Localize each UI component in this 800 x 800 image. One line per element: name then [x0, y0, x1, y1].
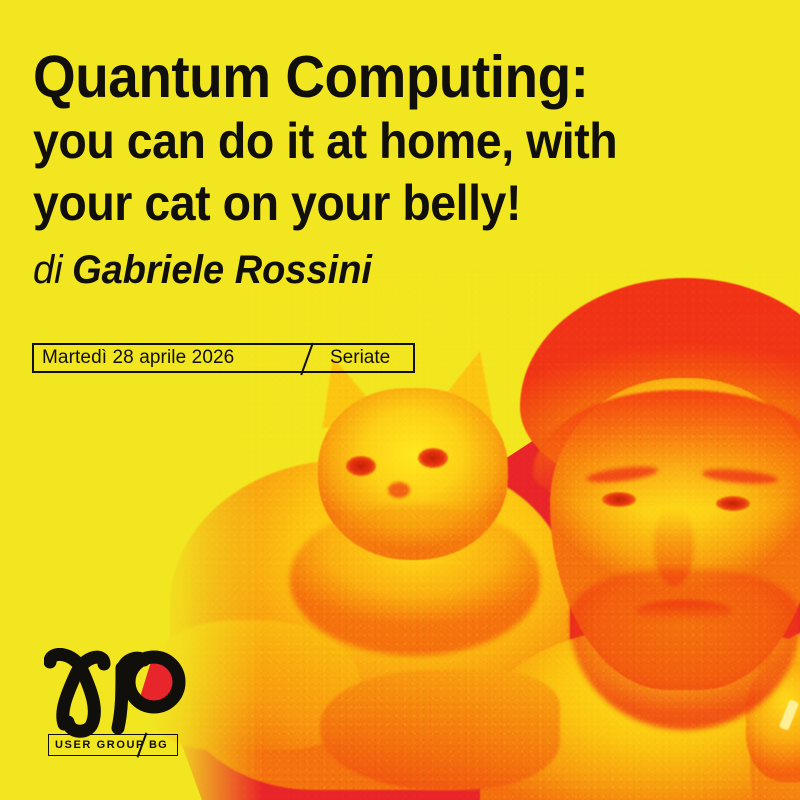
title-line-2: you can do it at home, with [33, 110, 684, 172]
person-mouth-shape [636, 600, 732, 622]
title-line-1: Quantum Computing: [33, 44, 684, 110]
xp-user-group-logo: USER GROUP BG [44, 648, 224, 760]
logo-tagline-right: BG [149, 739, 168, 751]
event-date: Martedì 28 aprile 2026 [34, 347, 234, 369]
cat-tail-shape [320, 670, 560, 790]
event-poster: Quantum Computing: you can do it at home… [0, 0, 800, 800]
xp-logo-mark-icon [44, 648, 224, 740]
cat-nose-shape [388, 482, 410, 498]
person-eye-right-shape [716, 496, 750, 511]
cat-ruff-shape [290, 506, 540, 656]
event-location: Seriate [330, 347, 390, 369]
person-eye-left-shape [602, 492, 636, 507]
logo-tagline-left: USER GROUP [49, 739, 145, 751]
event-separator-slash [300, 343, 314, 376]
logo-tagline-box: USER GROUP BG [48, 734, 178, 756]
author-line: diGabriele Rossini [33, 246, 698, 294]
author-name: Gabriele Rossini [72, 248, 372, 292]
event-details-box: Martedì 28 aprile 2026 Seriate [32, 343, 415, 373]
cat-eye-left-shape [346, 456, 376, 476]
title-line-3: your cat on your belly! [33, 172, 684, 234]
author-prefix: di [33, 248, 72, 292]
headline-block: Quantum Computing: you can do it at home… [33, 44, 733, 294]
cat-eye-right-shape [418, 448, 448, 468]
